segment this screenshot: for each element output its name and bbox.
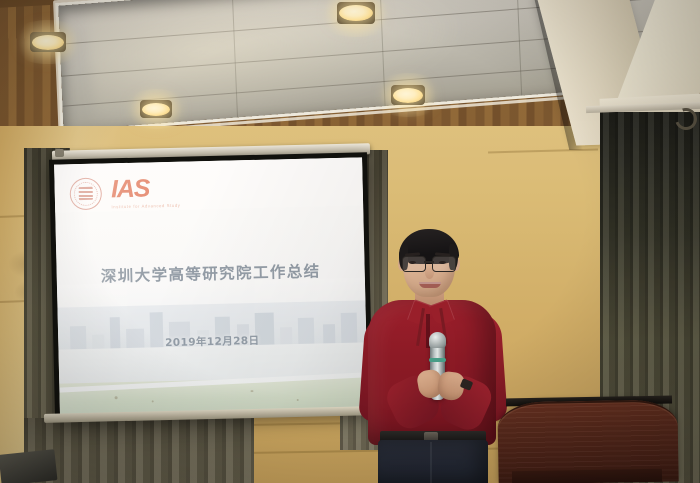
microphone-head-icon [429, 332, 446, 348]
presentation-slide: IAS Institute for Advanced Study [54, 157, 368, 414]
microphone-band [429, 358, 446, 362]
projection-screen: IAS Institute for Advanced Study [49, 152, 373, 419]
university-seal-icon [70, 177, 103, 210]
projection-screen-surface: IAS Institute for Advanced Study [54, 157, 368, 414]
ceiling-light-left [30, 32, 66, 52]
trousers [378, 440, 488, 483]
mouth [419, 282, 441, 288]
ceiling-light-lower-right [391, 85, 425, 105]
curtain-lower-left [24, 418, 254, 483]
conference-room-photo: IAS Institute for Advanced Study [0, 0, 700, 483]
trouser-seam [430, 442, 432, 483]
projection-screen-roller-cap [55, 149, 64, 157]
ceiling-light-lower-left [140, 100, 172, 118]
foreground-object [0, 449, 57, 483]
ias-logo-text: IAS [111, 175, 181, 202]
ceiling-light-center [337, 2, 375, 24]
presenter [362, 228, 510, 483]
slide-logo-group: IAS Institute for Advanced Study [70, 175, 181, 210]
nose [425, 266, 434, 279]
lectern-base [512, 469, 662, 483]
